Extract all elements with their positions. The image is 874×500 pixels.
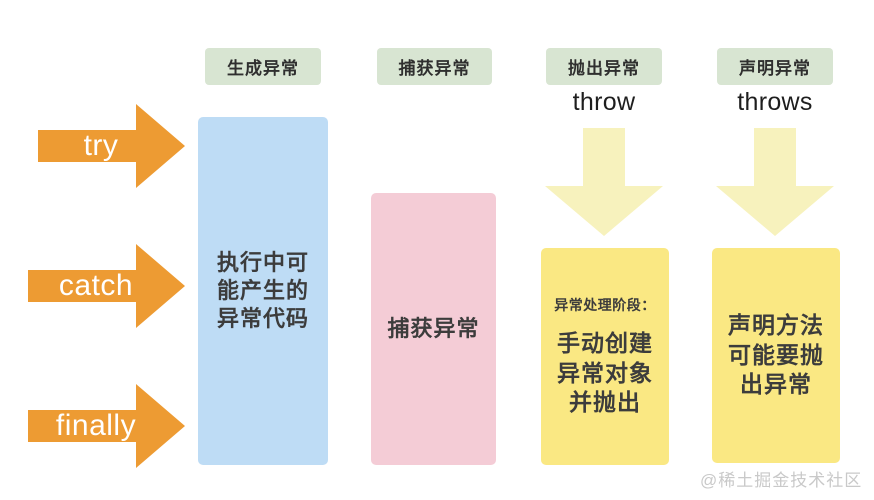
column-box-catch-exception: 捕获异常	[371, 193, 496, 465]
throws-down-arrow	[714, 128, 836, 238]
finally-arrow-glyph	[28, 384, 186, 468]
column-box-throw-exception-note: 异常处理阶段：	[554, 295, 656, 315]
diagram-canvas: 生成异常 捕获异常 抛出异常 声明异常 throw throws try cat…	[0, 0, 874, 500]
catch-arrow-glyph	[28, 244, 186, 328]
keyword-throw: throw	[546, 88, 662, 117]
catch-arrow: catch	[28, 244, 186, 328]
watermark: @稀土掘金技术社区	[700, 466, 862, 491]
column-box-catch-exception-text: 捕获异常	[387, 315, 479, 343]
header-chip-throw-label: 抛出异常	[568, 54, 640, 79]
header-chip-generate: 生成异常	[205, 48, 321, 85]
try-arrow: try	[38, 104, 186, 188]
finally-arrow: finally	[28, 384, 186, 468]
column-box-declare-exception: 声明方法 可能要抛 出异常	[712, 248, 840, 463]
keyword-throws: throws	[713, 88, 837, 117]
header-chip-catch-label: 捕获异常	[399, 54, 471, 79]
header-chip-generate-label: 生成异常	[227, 54, 299, 79]
throw-down-arrow-glyph	[543, 128, 665, 238]
header-chip-throws: 声明异常	[717, 48, 833, 85]
column-box-generate-exception-text: 执行中可 能产生的 异常代码	[217, 249, 309, 333]
try-arrow-glyph	[38, 104, 186, 188]
header-chip-throw: 抛出异常	[546, 48, 662, 85]
throws-down-arrow-glyph	[714, 128, 836, 238]
column-box-generate-exception: 执行中可 能产生的 异常代码	[198, 117, 328, 465]
column-box-throw-exception: 异常处理阶段： 手动创建 异常对象 并抛出	[541, 248, 669, 465]
column-box-throw-exception-text: 手动创建 异常对象 并抛出	[557, 329, 653, 417]
column-box-declare-exception-text: 声明方法 可能要抛 出异常	[728, 311, 824, 399]
throw-down-arrow	[543, 128, 665, 238]
header-chip-throws-label: 声明异常	[739, 54, 811, 79]
header-chip-catch: 捕获异常	[377, 48, 492, 85]
